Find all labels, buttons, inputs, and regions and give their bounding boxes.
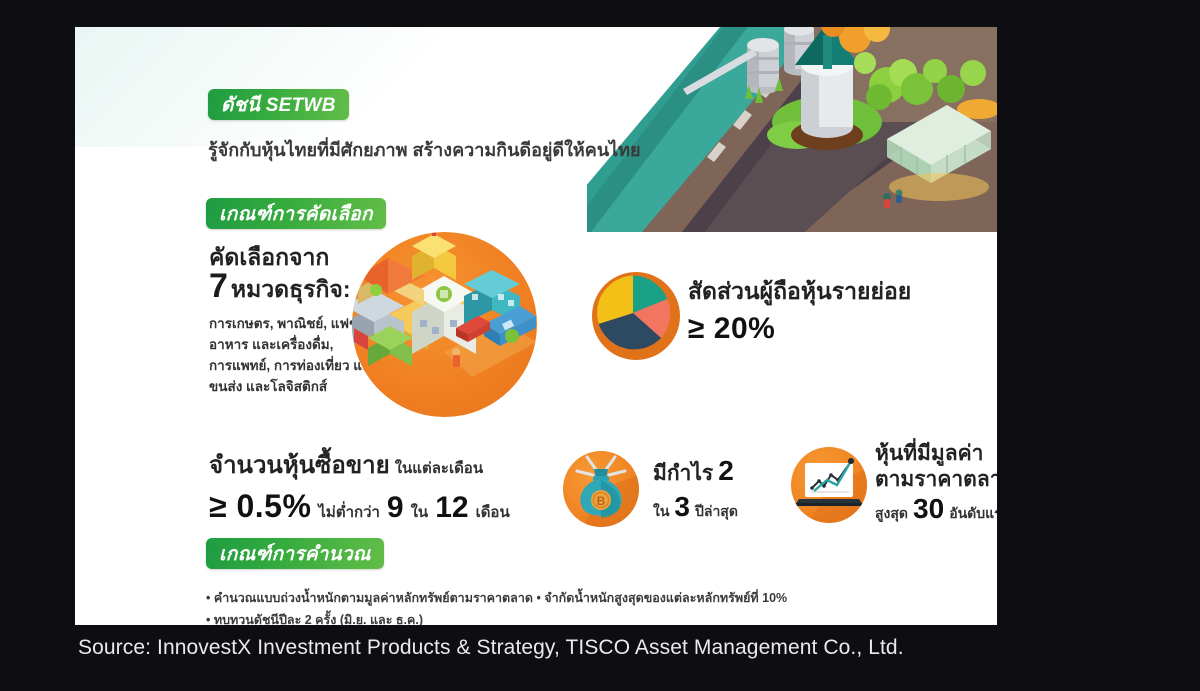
turnover-label-main: จำนวนหุ้นซื้อขาย <box>209 445 390 484</box>
isometric-scene-illustration <box>587 27 997 232</box>
market-cap-prefix: สูงสุด <box>875 503 908 525</box>
turnover-denominator: 12 <box>435 491 468 525</box>
calculation-bullet: • คำนวณแบบถ่วงน้ำหนักตามมูลค่าหลักทรัพย์… <box>206 588 787 610</box>
profit-unit: ปีล่าสุด <box>695 501 738 523</box>
free-float-value: ≥ 20% <box>688 312 911 346</box>
market-cap-line-1: หุ้นที่มีมูลค่า <box>875 441 997 467</box>
pie-chart-icon <box>592 272 680 360</box>
profit-connector: ใน <box>653 501 669 523</box>
card-background-wash <box>75 27 495 147</box>
free-float-label: สัดส่วนผู้ถือหุ้นรายย่อย <box>688 274 911 310</box>
turnover-connector: ใน <box>411 500 429 524</box>
isometric-city-illustration-icon <box>352 232 537 417</box>
badge-calculation-label: เกณฑ์การคำนวณ <box>219 539 371 569</box>
turnover-percent: ≥ 0.5% <box>209 488 311 525</box>
source-caption: Source: InnovestX Investment Products & … <box>78 636 904 660</box>
turnover-qualifier: ไม่ต่ำกว่า <box>318 500 380 524</box>
turnover-unit: เดือน <box>476 500 510 524</box>
profit-line-2: ใน 3 ปีล่าสุด <box>653 491 738 523</box>
market-cap-text-block: หุ้นที่มีมูลค่า ตามราคาตลาด สูงสุด 30 อั… <box>875 441 997 525</box>
profit-numerator: 2 <box>718 455 734 487</box>
market-cap-line-3: สูงสุด 30 อันดับแรก <box>875 493 997 525</box>
turnover-value-row: ≥ 0.5% ไม่ต่ำกว่า 9 ใน 12 เดือน <box>209 488 510 525</box>
laptop-chart-icon <box>791 447 867 523</box>
pie-chart-segments <box>594 274 672 352</box>
money-bag-icon: B <box>563 451 639 527</box>
infographic-card: ดัชนี SETWB รู้จักกับหุ้นไทยที่มีศักยภาพ… <box>75 27 997 625</box>
turnover-label-row: จำนวนหุ้นซื้อขาย ในแต่ละเดือน <box>209 445 510 484</box>
svg-text:B: B <box>597 494 606 508</box>
badge-calculation-criteria: เกณฑ์การคำนวณ <box>206 538 384 569</box>
turnover-block: จำนวนหุ้นซื้อขาย ในแต่ละเดือน ≥ 0.5% ไม่… <box>209 445 510 525</box>
turnover-numerator: 9 <box>387 491 404 525</box>
badge-selection-criteria: เกณฑ์การคัดเลือก <box>206 198 386 229</box>
profit-denominator: 3 <box>674 491 690 523</box>
calculation-bullets: • คำนวณแบบถ่วงน้ำหนักตามมูลค่าหลักทรัพย์… <box>206 588 787 625</box>
header-subtitle: รู้จักกับหุ้นไทยที่มีศักยภาพ สร้างความกิ… <box>208 135 641 164</box>
market-cap-line-2: ตามราคาตลาด <box>875 467 997 493</box>
badge-setwb-index: ดัชนี SETWB <box>208 89 349 120</box>
free-float-text-block: สัดส่วนผู้ถือหุ้นรายย่อย ≥ 20% <box>688 274 911 346</box>
profit-text-block: มีกำไร 2 ใน 3 ปีล่าสุด <box>653 455 738 523</box>
badge-setwb-label: ดัชนี SETWB <box>221 90 336 120</box>
profit-line-1: มีกำไร 2 <box>653 455 738 490</box>
market-cap-value: 30 <box>913 493 944 525</box>
categories-count-value: 7 <box>209 269 228 303</box>
badge-selection-label: เกณฑ์การคัดเลือก <box>219 199 373 229</box>
profit-label: มีกำไร <box>653 457 713 490</box>
categories-count-label: หมวดธุรกิจ: <box>231 272 351 308</box>
screenshot-root: ดัชนี SETWB รู้จักกับหุ้นไทยที่มีศักยภาพ… <box>0 0 1200 691</box>
market-cap-suffix: อันดับแรก <box>949 503 997 525</box>
turnover-label-period: ในแต่ละเดือน <box>395 456 483 480</box>
calculation-bullet: • ทบทวนดัชนีปีละ 2 ครั้ง (มิ.ย. และ ธ.ค.… <box>206 610 787 625</box>
